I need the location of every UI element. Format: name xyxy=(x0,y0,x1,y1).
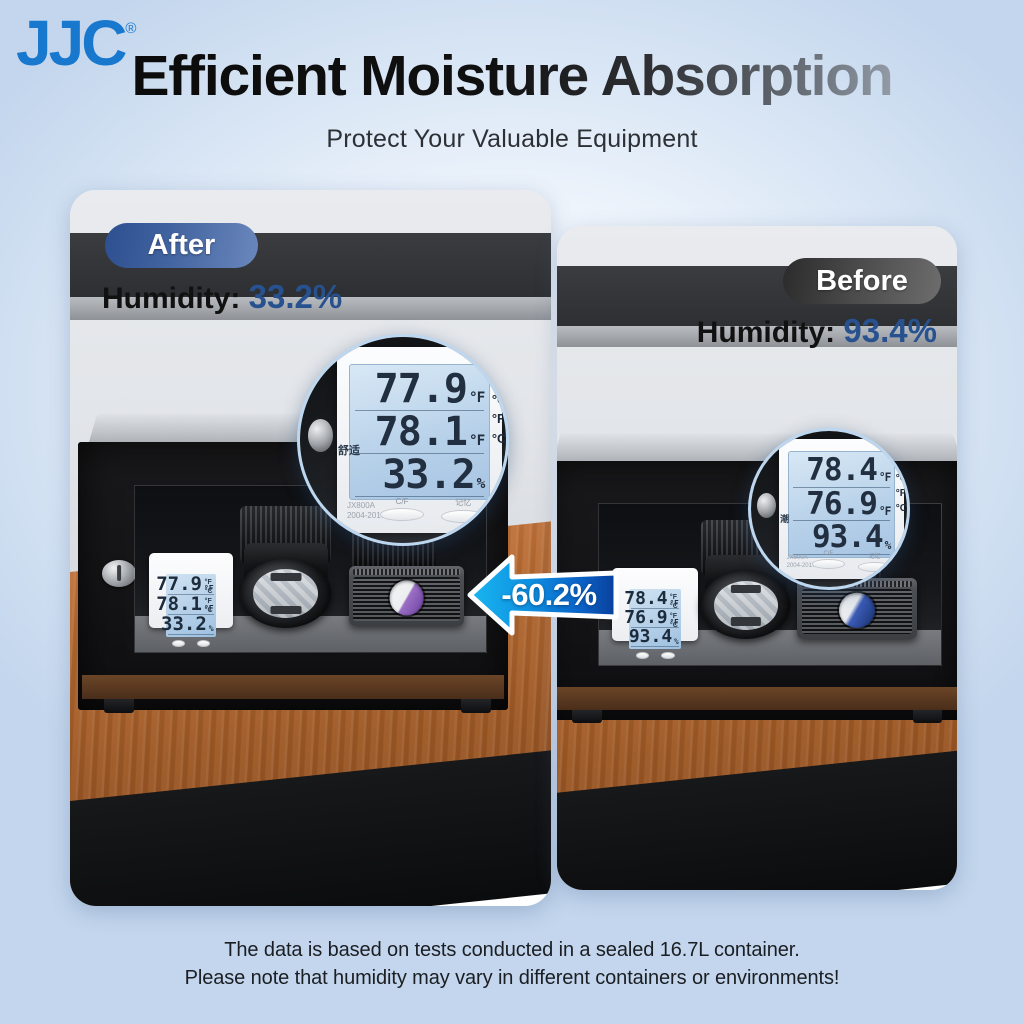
cf-button-zoom[interactable]: C/F xyxy=(812,551,846,572)
cf-button-element[interactable] xyxy=(812,559,846,569)
marketing-image: JJC ® Efficient Moisture Absorption Prot… xyxy=(0,0,1024,1024)
zoom-humidity-unit: % xyxy=(477,477,485,496)
zoom-side-unit-3: °C xyxy=(492,429,507,449)
page-title: Efficient Moisture Absorption xyxy=(0,48,1024,105)
side-unit-2: °F xyxy=(205,597,213,606)
cf-button[interactable] xyxy=(172,640,185,647)
device-button-row: C/F 记忆 xyxy=(380,497,485,523)
disclaimer-line-1: The data is based on tests conducted in … xyxy=(0,936,1024,964)
zoom-temp-c-unit: °F xyxy=(879,506,890,520)
humidity-label-after: Humidity: xyxy=(102,282,240,315)
zoom-side-unit-2: °F xyxy=(896,486,907,501)
lcd-humidity-value: 33.2 xyxy=(161,615,207,634)
memory-button-element[interactable] xyxy=(441,510,485,523)
memory-button-element[interactable] xyxy=(858,562,892,572)
zoom-temp-c-row: 78.1 °F xyxy=(355,411,485,454)
humidity-indicator-wet xyxy=(839,592,875,628)
zoom-temp-c-unit: °F xyxy=(469,434,484,453)
cabinet-foot-left xyxy=(572,710,601,723)
memory-button[interactable] xyxy=(197,640,210,647)
zoom-humidity-row: 93.4 % xyxy=(793,521,891,555)
lens-cap-pattern xyxy=(253,569,319,618)
humidity-value-before: 93.4% xyxy=(843,312,937,349)
lcd-side-units: °F °C °F °C xyxy=(205,578,213,616)
humidity-readout-after: Humidity: 33.2% xyxy=(102,278,342,316)
cabinet-foot-right xyxy=(913,710,942,723)
reduction-value: -60.2% xyxy=(466,549,618,641)
brand-logo-text: JJC xyxy=(16,16,124,70)
zoom-side-unit-1: °C xyxy=(492,390,507,410)
side-unit-1: °C xyxy=(205,587,213,596)
zoom-temp-c-value: 76.9 xyxy=(806,488,877,521)
badge-before-label: Before xyxy=(816,265,908,298)
thermometer-lcd-after: 77.9 °F 78.1 °F 33.2 % xyxy=(166,574,215,637)
thermometer-lcd-zoom-before: 78.4 °F 76.9 °F 93.4 % °F °C °F xyxy=(788,451,894,558)
zoom-temp-f-unit: °F xyxy=(879,472,890,486)
lens-cap-pattern xyxy=(714,581,778,630)
cf-button-label: C/F xyxy=(812,551,846,557)
humidity-indicator-dry xyxy=(389,580,424,615)
humidity-value-after: 33.2% xyxy=(249,278,343,315)
lcd-humidity-unit: % xyxy=(209,625,214,634)
comfort-indicator-label: 潮 xyxy=(780,512,789,525)
lcd-temp-c-value: 78.1 xyxy=(156,595,202,614)
memory-button-label: 记忆 xyxy=(441,497,485,508)
lcd-side-units: °F °C °F °C xyxy=(670,593,678,631)
badge-after-label: After xyxy=(148,229,216,262)
thermometer-zoom-after: 77.9 °F 78.1 °F 33.2 % °F °C °F xyxy=(337,347,502,532)
side-unit-3: °C xyxy=(205,606,213,615)
lcd-temp-c-value: 76.9 xyxy=(624,609,667,627)
badge-before: Before xyxy=(783,258,941,304)
page-subtitle: Protect Your Valuable Equipment xyxy=(0,125,1024,154)
device-button-row: C/F 记忆 xyxy=(812,551,892,572)
lcd-humidity-unit: % xyxy=(674,638,679,646)
zoom-side-unit-0: °F xyxy=(492,370,507,390)
thermometer-device-after: 77.9 °F 78.1 °F 33.2 % xyxy=(149,553,233,628)
thermometer-device-before: 78.4 °F 76.9 °F 93.4 % xyxy=(612,568,698,641)
memory-button[interactable] xyxy=(661,652,674,659)
disclaimer-line-2: Please note that humidity may vary in di… xyxy=(0,964,1024,992)
zoom-temp-f-row: 77.9 °F xyxy=(355,368,485,411)
magnifier-before: 78.4 °F 76.9 °F 93.4 % °F °C °F xyxy=(748,428,910,590)
badge-after: After xyxy=(105,223,258,268)
thermometer-lcd-zoom-after: 77.9 °F 78.1 °F 33.2 % °F °C °F xyxy=(349,364,489,501)
lcd-temp-f-value: 77.9 xyxy=(156,575,202,594)
zoom-temp-c-row: 76.9 °F xyxy=(793,488,891,522)
zoom-humidity-value: 93.4 xyxy=(812,521,883,554)
cabinet-foot-left xyxy=(104,699,134,712)
zoom-side-unit-3: °C xyxy=(896,501,907,516)
zoom-side-unit-1: °C xyxy=(896,471,907,486)
cf-button-element[interactable] xyxy=(380,508,424,521)
reduction-arrow: -60.2% xyxy=(466,549,618,641)
zoom-temp-c-value: 78.1 xyxy=(375,411,467,453)
zoom-temp-f-row: 78.4 °F xyxy=(793,454,891,488)
side-unit-0: °F xyxy=(205,578,213,587)
dehumidifier-grille-top xyxy=(353,569,459,575)
side-unit-0: °F xyxy=(670,593,678,602)
cabinet-foot-right xyxy=(461,699,491,712)
zoom-humidity-value: 33.2 xyxy=(382,454,474,496)
cabinet-wood-trim xyxy=(557,687,957,710)
zoom-humidity-row: 33.2 % xyxy=(355,454,485,497)
thermometer-zoom-before: 78.4 °F 76.9 °F 93.4 % °F °C °F xyxy=(779,439,904,579)
zoom-side-unit-2: °F xyxy=(492,409,507,429)
zoom-side-unit-0: °F xyxy=(896,456,907,471)
lcd-humidity-row: 33.2 % xyxy=(168,615,213,635)
cf-button-label: C/F xyxy=(380,497,424,506)
memory-button-zoom[interactable]: 记忆 xyxy=(858,551,892,572)
magnifier-after: 77.9 °F 78.1 °F 33.2 % °F °C °F xyxy=(297,334,509,546)
zoom-side-units: °F °C °F °C xyxy=(492,370,507,448)
thermometer-lcd-before: 78.4 °F 76.9 °F 93.4 % xyxy=(629,589,680,649)
zoom-temp-f-unit: °F xyxy=(469,391,484,410)
comfort-indicator-label: 舒适 xyxy=(338,442,360,458)
cf-button[interactable] xyxy=(636,652,649,659)
cabinet-wood-trim xyxy=(82,675,503,699)
disclaimer: The data is based on tests conducted in … xyxy=(0,936,1024,993)
side-unit-3: °C xyxy=(670,621,678,630)
memory-button-zoom[interactable]: 记忆 xyxy=(441,497,485,523)
thermometer-buttons xyxy=(166,637,215,647)
humidity-label-before: Humidity: xyxy=(697,316,835,349)
lens-front-cap xyxy=(240,559,331,627)
brand-logo: JJC ® xyxy=(16,16,136,70)
humidity-readout-before: Humidity: 93.4% xyxy=(697,312,937,350)
zoom-side-units: °F °C °F °C xyxy=(896,456,907,516)
thermometer-buttons xyxy=(629,649,680,659)
cf-button-zoom[interactable]: C/F xyxy=(380,497,424,523)
side-unit-1: °C xyxy=(670,602,678,611)
lcd-humidity-row: 93.4 % xyxy=(631,628,678,647)
registered-trademark-icon: ® xyxy=(125,20,136,37)
zoom-temp-f-value: 78.4 xyxy=(806,454,877,487)
memory-button-label: 记忆 xyxy=(858,551,892,560)
cabinet-lock xyxy=(102,560,136,587)
lcd-temp-f-value: 78.4 xyxy=(624,590,667,608)
side-unit-2: °F xyxy=(670,612,678,621)
zoom-temp-f-value: 77.9 xyxy=(375,368,467,410)
panel-after: 77.9 °F 78.1 °F 33.2 % xyxy=(70,190,551,906)
lcd-humidity-value: 93.4 xyxy=(629,628,672,646)
dehumidifier-module-after xyxy=(349,566,465,626)
